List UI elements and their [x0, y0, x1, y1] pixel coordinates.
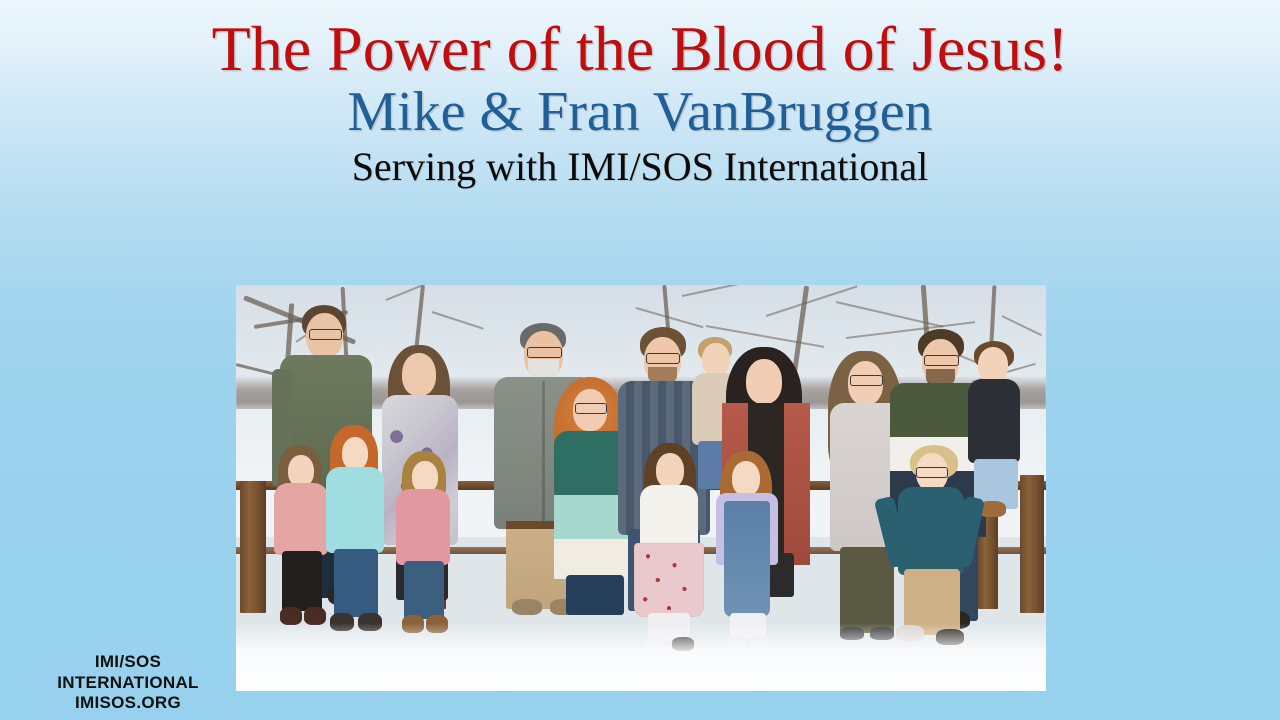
missionary-names: Mike & Fran VanBruggen: [0, 83, 1280, 142]
org-stamp: IMI/SOS INTERNATIONAL IMISOS.ORG: [28, 652, 228, 714]
torso: [968, 379, 1020, 463]
beard: [528, 359, 559, 379]
eyeglasses: [575, 403, 607, 414]
photo-foreground-snow: [236, 623, 1046, 691]
deck-post: [1020, 475, 1044, 613]
eyeglasses: [916, 467, 948, 478]
sweater-lowband: [554, 539, 632, 579]
legs: [334, 549, 378, 617]
torso: [640, 485, 698, 549]
eyeglasses: [527, 347, 562, 358]
head: [402, 353, 436, 396]
org-stamp-line-3: IMISOS.ORG: [28, 693, 228, 714]
head: [342, 437, 368, 470]
legs: [282, 551, 322, 611]
eyeglasses: [924, 355, 959, 366]
legs: [840, 547, 894, 633]
cardigan-right: [784, 403, 810, 565]
legs: [566, 575, 624, 615]
org-stamp-line-2: INTERNATIONAL: [28, 673, 228, 694]
family-photo: [236, 285, 1046, 691]
head: [732, 461, 760, 496]
legs: [404, 561, 444, 619]
eyeglasses: [309, 329, 342, 340]
torso: [274, 483, 328, 555]
shoe: [512, 599, 542, 615]
head: [702, 343, 730, 376]
org-stamp-line-1: IMI/SOS: [28, 652, 228, 673]
torso: [396, 489, 450, 565]
deck-post: [240, 481, 266, 613]
head: [746, 359, 782, 404]
head: [978, 347, 1008, 383]
torso: [326, 467, 384, 553]
organization-subtitle: Serving with IMI/SOS International: [0, 146, 1280, 188]
eyeglasses: [646, 353, 680, 364]
slide-title: The Power of the Blood of Jesus!: [0, 16, 1280, 81]
presentation-slide: The Power of the Blood of Jesus! Mike & …: [0, 0, 1280, 720]
floral-skirt-pattern: [634, 543, 704, 617]
denim-jumper: [724, 501, 770, 617]
shirt-placket: [542, 381, 545, 523]
eyeglasses: [850, 375, 883, 386]
head: [656, 453, 684, 488]
title-block: The Power of the Blood of Jesus! Mike & …: [0, 0, 1280, 188]
